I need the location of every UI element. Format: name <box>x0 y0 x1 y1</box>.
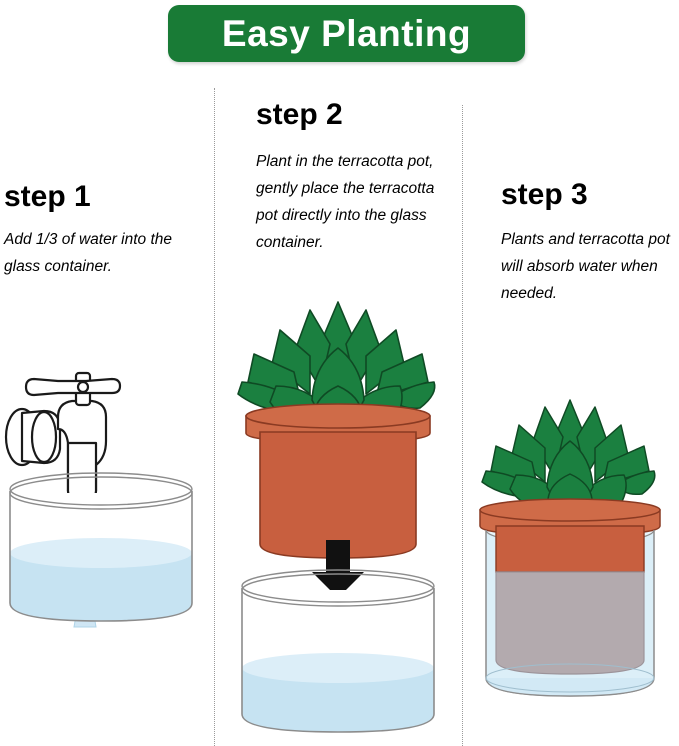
step-3-illustration <box>462 390 679 746</box>
terracotta-pot-icon <box>246 404 430 558</box>
glass-container-icon <box>242 570 434 732</box>
step-2-title: step 2 <box>256 98 343 132</box>
glass-container-icon <box>10 473 192 621</box>
water-surface <box>10 538 192 568</box>
step-3-body: Plants and terracotta pot will absorb wa… <box>501 226 679 307</box>
water-surface <box>242 653 434 683</box>
terracotta-pot-icon <box>480 499 660 674</box>
step-2-column: step 2 Plant in the terracotta pot, gent… <box>214 0 462 746</box>
succulent-plant-icon <box>482 400 655 512</box>
step-1-column: step 1 Add 1/3 of water into the glass c… <box>0 0 214 746</box>
step-2-illustration <box>214 290 462 746</box>
step-2-body: Plant in the terracotta pot, gently plac… <box>256 148 452 257</box>
step-1-body: Add 1/3 of water into the glass containe… <box>4 226 204 280</box>
step-1-illustration <box>0 345 214 746</box>
step-1-title: step 1 <box>4 180 91 214</box>
step-3-title: step 3 <box>501 178 588 212</box>
step-3-column: step 3 Plants and terracotta pot will ab… <box>462 0 679 746</box>
submerged-pot-body <box>496 572 644 674</box>
